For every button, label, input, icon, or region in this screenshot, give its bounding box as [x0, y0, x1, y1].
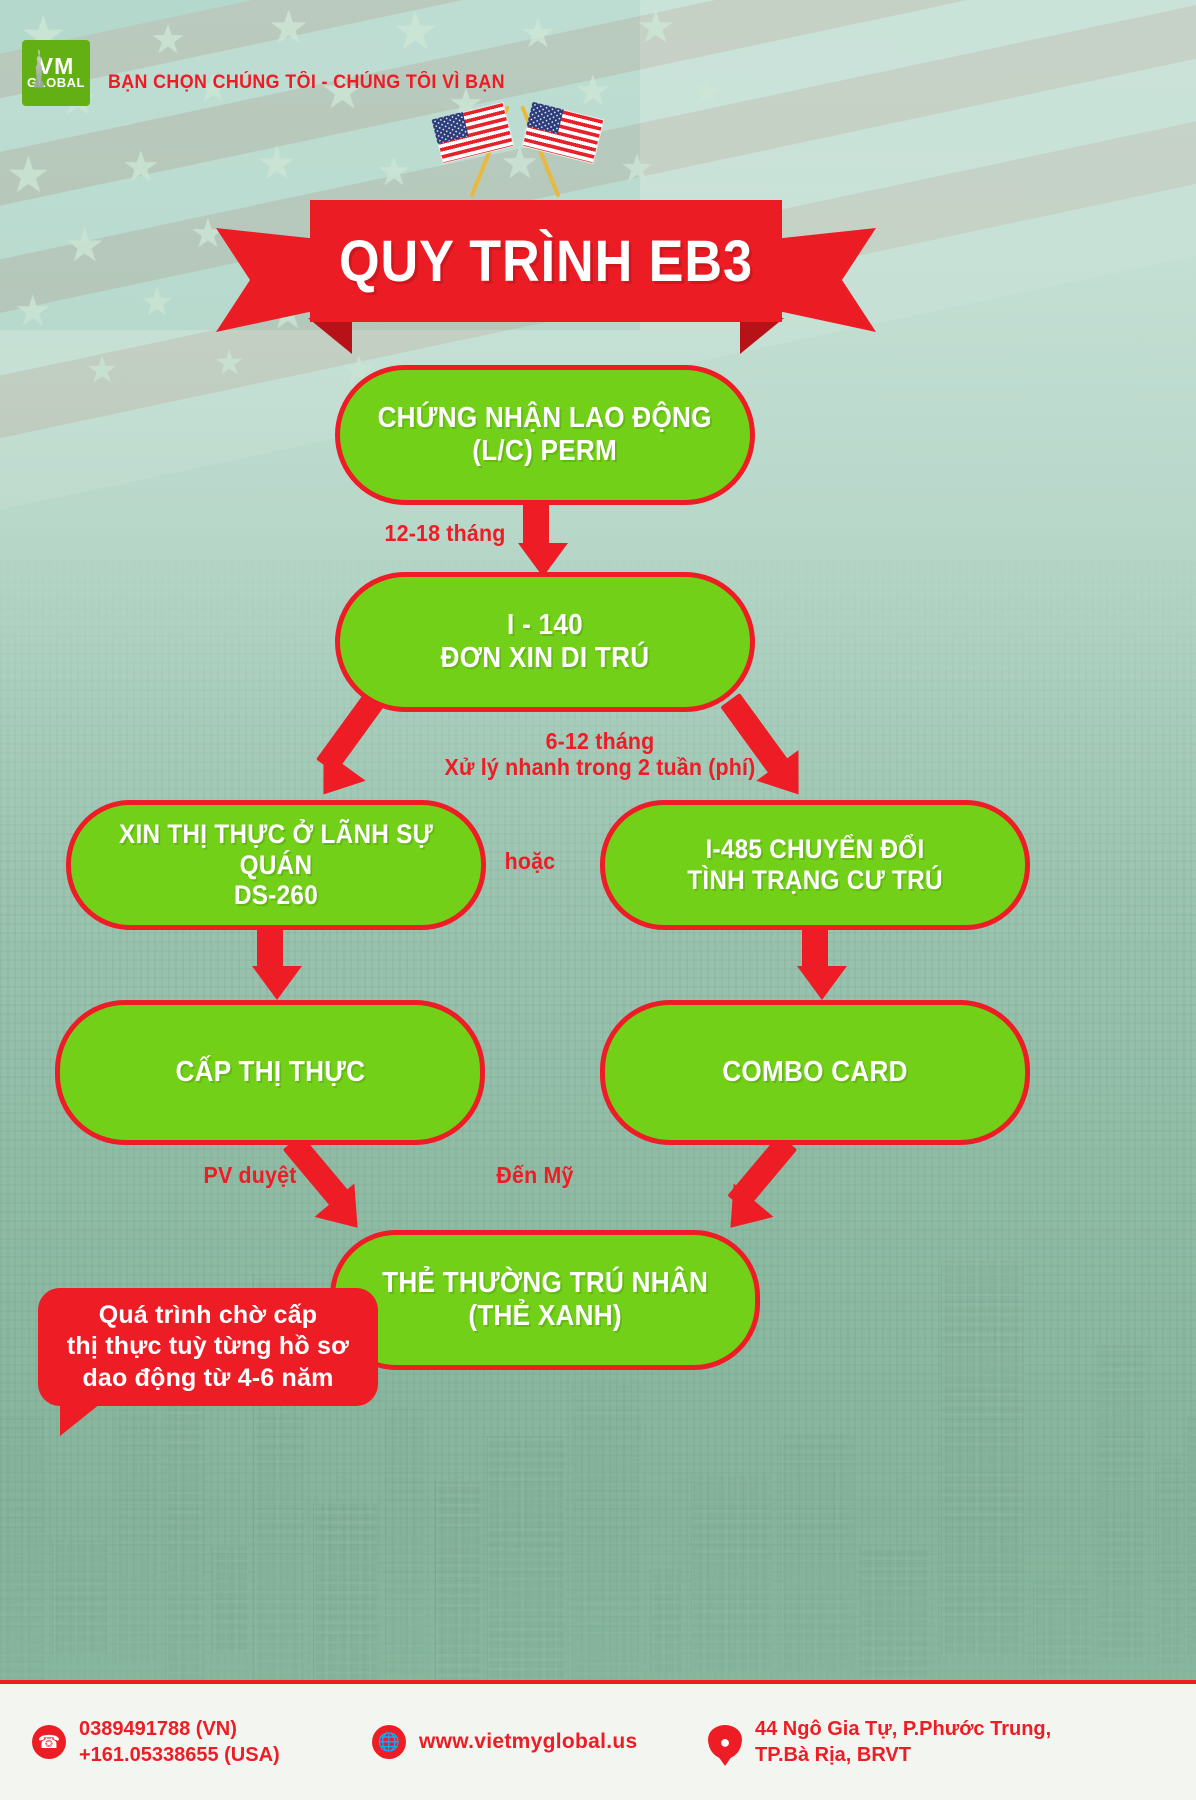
footer-phone[interactable]: ☎ 0389491788 (VN) +161.05338655 (USA) — [32, 1716, 362, 1769]
flow-node-perm[interactable]: CHỨNG NHẬN LAO ĐỘNG (L/C) PERM — [335, 365, 755, 505]
flow-node-i140[interactable]: I - 140 ĐƠN XIN DI TRÚ — [335, 572, 755, 712]
edge-label-combo-to-green: Đến Mỹ — [447, 1162, 624, 1188]
logo-text-vm: VM — [38, 57, 75, 76]
footer-address[interactable]: ● 44 Ngô Gia Tự, P.Phước Trung, TP.Bà Rị… — [708, 1716, 1138, 1769]
footer-address-text: 44 Ngô Gia Tự, P.Phước Trung, TP.Bà Rịa,… — [755, 1716, 1051, 1769]
flow-node-combo-card[interactable]: COMBO CARD — [600, 1000, 1030, 1145]
callout-bubble: Quá trình chờ cấp thị thực tuỳ từng hồ s… — [38, 1288, 378, 1406]
flow-node-combo-card-label: COMBO CARD — [708, 1056, 922, 1089]
location-pin-icon: ● — [708, 1725, 742, 1759]
arrow-i485-to-combo — [797, 930, 833, 1000]
flow-node-visa[interactable]: CẤP THỊ THỰC — [55, 1000, 485, 1145]
ribbon-banner: QUY TRÌNH EB3 — [310, 200, 782, 322]
infographic-poster: ★★★★★★★★★★★★★★★★★★★★★★★★★★★★★★★ VM GLOBA… — [0, 0, 1196, 1800]
edge-label-perm-to-i140: 12-18 tháng — [338, 520, 552, 546]
phone-icon: ☎ — [32, 1725, 66, 1759]
header-bar: VM GLOBAL BẠN CHỌN CHÚNG TÔI - CHÚNG TÔI… — [0, 0, 1196, 140]
callout-bubble-text: Quá trình chờ cấp thị thực tuỳ từng hồ s… — [67, 1300, 349, 1395]
flow-node-green-card-label: THẺ THƯỜNG TRÚ NHÂN (THẺ XANH) — [368, 1267, 723, 1333]
footer-contact-bar: ☎ 0389491788 (VN) +161.05338655 (USA) 🌐 … — [0, 1680, 1196, 1800]
edge-label-visa-to-green: PV duyệt — [162, 1162, 339, 1188]
edge-label-or: hoặc — [474, 848, 586, 874]
company-logo[interactable]: VM GLOBAL — [22, 40, 90, 106]
edge-label-i140-branch: 6-12 tháng Xử lý nhanh trong 2 tuần (phí… — [349, 728, 851, 781]
title-ribbon: QUY TRÌNH EB3 — [216, 200, 876, 340]
footer-website[interactable]: 🌐 www.vietmyglobal.us — [372, 1725, 702, 1759]
arrow-ds260-to-visa — [252, 930, 288, 1000]
page-title: QUY TRÌNH EB3 — [339, 228, 753, 295]
flow-node-ds260-label: XIN THỊ THỰC Ở LÃNH SỰ QUÁN DS-260 — [92, 819, 461, 911]
footer-website-text: www.vietmyglobal.us — [419, 1728, 637, 1756]
flow-node-i485[interactable]: I-485 CHUYỂN ĐỔI TÌNH TRẠNG CƯ TRÚ — [600, 800, 1030, 930]
footer-phone-text: 0389491788 (VN) +161.05338655 (USA) — [79, 1716, 280, 1769]
flow-node-visa-label: CẤP THỊ THỰC — [161, 1056, 380, 1089]
flow-node-i485-label: I-485 CHUYỂN ĐỔI TÌNH TRẠNG CƯ TRÚ — [673, 834, 957, 896]
flow-node-green-card[interactable]: THẺ THƯỜNG TRÚ NHÂN (THẺ XANH) — [330, 1230, 760, 1370]
header-tagline: BẠN CHỌN CHÚNG TÔI - CHÚNG TÔI VÌ BẠN — [108, 72, 505, 94]
flow-node-perm-label: CHỨNG NHẬN LAO ĐỘNG (L/C) PERM — [364, 402, 727, 468]
globe-icon: 🌐 — [372, 1725, 406, 1759]
flow-node-i140-label: I - 140 ĐƠN XIN DI TRÚ — [426, 609, 664, 675]
flow-node-ds260[interactable]: XIN THỊ THỰC Ở LÃNH SỰ QUÁN DS-260 — [66, 800, 486, 930]
